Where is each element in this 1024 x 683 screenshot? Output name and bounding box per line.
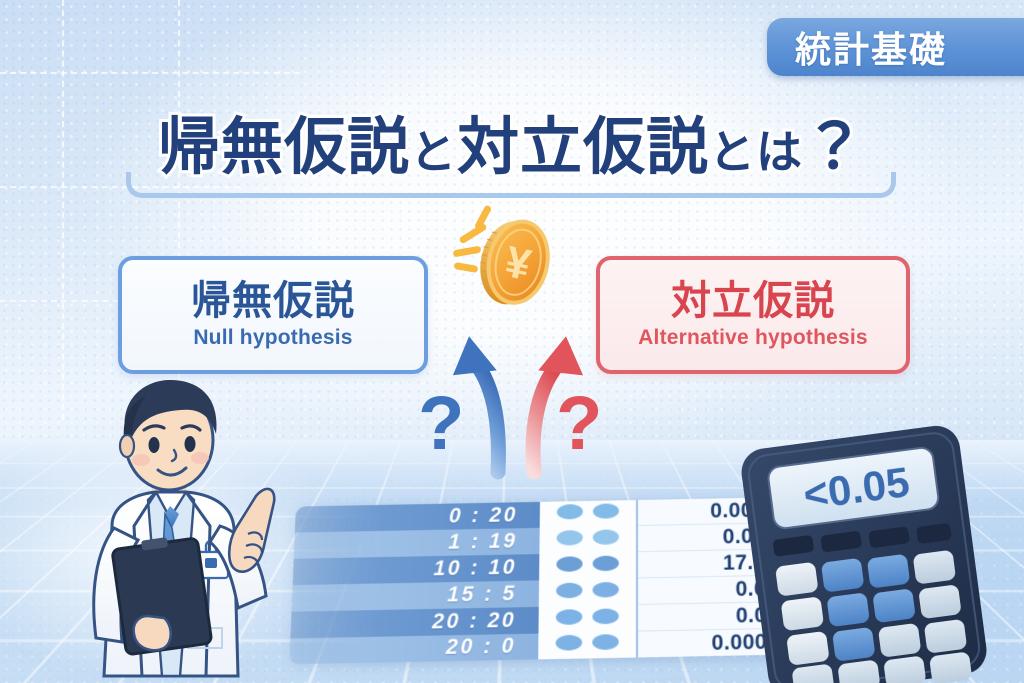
scientist-pointing-hand	[229, 489, 274, 572]
background-dashed-line-v1	[62, 0, 64, 420]
scientist-eye-left	[149, 437, 160, 453]
scientist-illustration	[60, 376, 330, 683]
question-mark-right: ?	[556, 386, 602, 462]
table-cell-dots	[539, 552, 637, 580]
scientist-cheek-left	[132, 454, 150, 466]
title-underline	[126, 172, 896, 198]
dot-marker-icon	[556, 556, 582, 572]
scientist-eye-right	[185, 436, 196, 452]
dot-marker-icon	[592, 608, 618, 624]
card-null-hypothesis-en: Null hypothesis	[193, 326, 352, 350]
calculator-illustration: <0.05	[732, 416, 1000, 683]
coin-illustration: ¥	[462, 208, 572, 318]
scientist-badge-lock-icon	[205, 558, 217, 568]
table-cell-dots	[538, 631, 637, 659]
category-badge: 統計基礎	[767, 18, 1024, 76]
category-badge-label: 統計基礎	[795, 21, 947, 73]
table-cell-dots	[539, 526, 637, 554]
dot-marker-icon	[593, 529, 619, 545]
dot-marker-icon	[556, 582, 582, 598]
dot-marker-icon	[593, 503, 619, 518]
dot-marker-icon	[556, 635, 583, 651]
background-dashed-line-h1	[0, 72, 300, 74]
scientist-left-hand	[134, 616, 171, 650]
dot-marker-icon	[556, 609, 582, 625]
table-cell-dots	[539, 578, 637, 606]
dot-marker-icon	[557, 504, 583, 519]
dot-marker-icon	[592, 634, 618, 650]
scientist-cheek-right	[191, 452, 209, 464]
card-alternative-hypothesis-jp: 対立仮説	[671, 280, 835, 322]
sparkle-line-2	[458, 223, 487, 245]
sparkle-group	[456, 212, 506, 272]
table-cell-dots	[538, 604, 637, 633]
question-mark-left: ?	[418, 386, 464, 462]
title-conjunction: と	[410, 126, 457, 178]
dot-marker-icon	[593, 581, 619, 597]
results-table-body: 0 : 200.0001%1 : 190.001%10 : 1017.62%15…	[289, 497, 813, 665]
card-alternative-hypothesis: 対立仮説 Alternative hypothesis	[596, 256, 910, 374]
sparkle-line-4	[454, 262, 479, 273]
results-table-wrapper: 0 : 200.0001%1 : 190.001%10 : 1017.62%15…	[290, 497, 775, 659]
card-null-hypothesis: 帰無仮説 Null hypothesis	[118, 256, 428, 374]
title-tail: とは	[709, 126, 803, 178]
results-table: 0 : 200.0001%1 : 190.001%10 : 1017.62%15…	[289, 497, 813, 665]
card-null-hypothesis-jp: 帰無仮説	[191, 280, 355, 322]
sparkle-line-3	[453, 246, 482, 258]
scientist-ear	[120, 435, 134, 457]
poster-canvas: 統計基礎 帰無仮説と対立仮説とは？ 帰無仮説 Null hypothesis 対…	[0, 0, 1024, 683]
card-alternative-hypothesis-en: Alternative hypothesis	[638, 326, 868, 350]
table-cell-dots	[540, 500, 637, 527]
dot-marker-icon	[593, 555, 619, 571]
dot-marker-icon	[557, 530, 583, 546]
